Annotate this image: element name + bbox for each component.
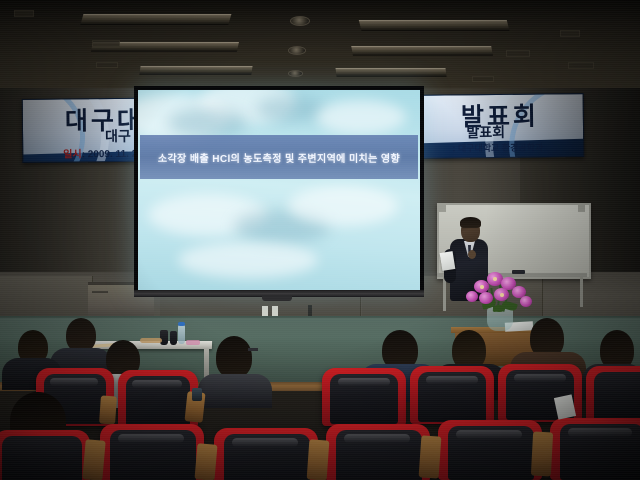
orchid-flower (520, 296, 532, 307)
presenter-papers (440, 251, 456, 271)
presenter-hand (468, 250, 476, 259)
seat-highlight (426, 376, 478, 384)
seat-highlight (568, 428, 632, 437)
eyeglasses-icon (248, 348, 258, 351)
seat-highlight (232, 438, 298, 447)
desk-item (140, 338, 162, 343)
whiteboard-marker (512, 270, 525, 274)
ceiling-vent (506, 50, 530, 57)
ceiling-vent (472, 76, 494, 82)
whiteboard-corner (439, 205, 446, 212)
seat-armrest (99, 395, 117, 424)
thermos-bottle (170, 331, 177, 345)
seat-highlight (514, 374, 566, 382)
water-bottle (178, 325, 185, 344)
seat-armrest (194, 443, 217, 480)
ceiling-vent (14, 10, 34, 17)
recessed-fluorescent-light (139, 66, 252, 74)
seat-armrest (419, 435, 442, 478)
projection-screen: 소각장 배출 HCl의 농도측정 및 주변지역에 미치는 영향 (134, 86, 424, 294)
audience-head (216, 336, 252, 378)
seat-highlight (338, 378, 390, 386)
ceiling (0, 0, 640, 92)
bottle-cap (178, 322, 185, 326)
cloud-shape (288, 186, 398, 226)
orchid-center (500, 293, 504, 297)
pink-item (186, 340, 200, 345)
cloud-shape (168, 108, 248, 138)
seat-highlight (132, 380, 182, 388)
orchid-flower (479, 292, 493, 304)
seat-armrest (307, 439, 330, 480)
seat-highlight (344, 434, 410, 443)
auditorium-photo: 대구대 발표회 대구 발표회 일시: 2009. 11. 20(금) : 대구대… (0, 0, 640, 480)
seat-highlight (456, 430, 522, 439)
seat-highlight (118, 434, 184, 443)
slide-title-band: 소각장 배출 HCl의 농도측정 및 주변지역에 미치는 영향 (140, 135, 418, 179)
recessed-fluorescent-light (336, 68, 447, 76)
seat-armrest (531, 432, 553, 477)
whiteboard-leg (443, 277, 446, 311)
orchid-center (493, 277, 497, 281)
seat-armrest (82, 439, 105, 480)
seat-cushion (2, 436, 82, 480)
floor-object (308, 305, 312, 316)
ceiling-speaker (290, 16, 310, 26)
whiteboard-leg (580, 277, 583, 307)
ceiling-speaker (288, 70, 303, 77)
audience-shoulders (198, 374, 272, 408)
recessed-fluorescent-light (359, 20, 509, 30)
slide-title-text: 소각장 배출 HCl의 농도측정 및 주변지역에 미치는 영향 (158, 150, 400, 165)
floor-object (272, 306, 278, 316)
slide-surface: 소각장 배출 HCl의 농도측정 및 주변지역에 미치는 영향 (138, 90, 420, 290)
orchid-center (480, 285, 484, 289)
cloud-shape (316, 100, 406, 134)
wall-panel (0, 276, 93, 318)
audience-head (66, 318, 96, 352)
ceiling-vent (560, 30, 580, 37)
ceiling-vent (568, 62, 594, 69)
presenter-hair (460, 217, 481, 228)
handheld-device (192, 388, 202, 401)
orchid-flower (466, 291, 478, 302)
recessed-fluorescent-light (81, 14, 232, 24)
seat-cushion (594, 372, 640, 422)
whiteboard-corner (578, 205, 585, 212)
thermos-bottle (160, 330, 168, 345)
ceiling-vent (96, 62, 118, 68)
floor-object (262, 306, 268, 316)
recessed-fluorescent-light (351, 46, 493, 55)
ceiling-speaker (288, 46, 306, 55)
screen-roller (262, 296, 292, 301)
cloud-shape (178, 242, 318, 278)
ceiling-vent (92, 40, 120, 47)
seat-highlight (50, 378, 98, 386)
